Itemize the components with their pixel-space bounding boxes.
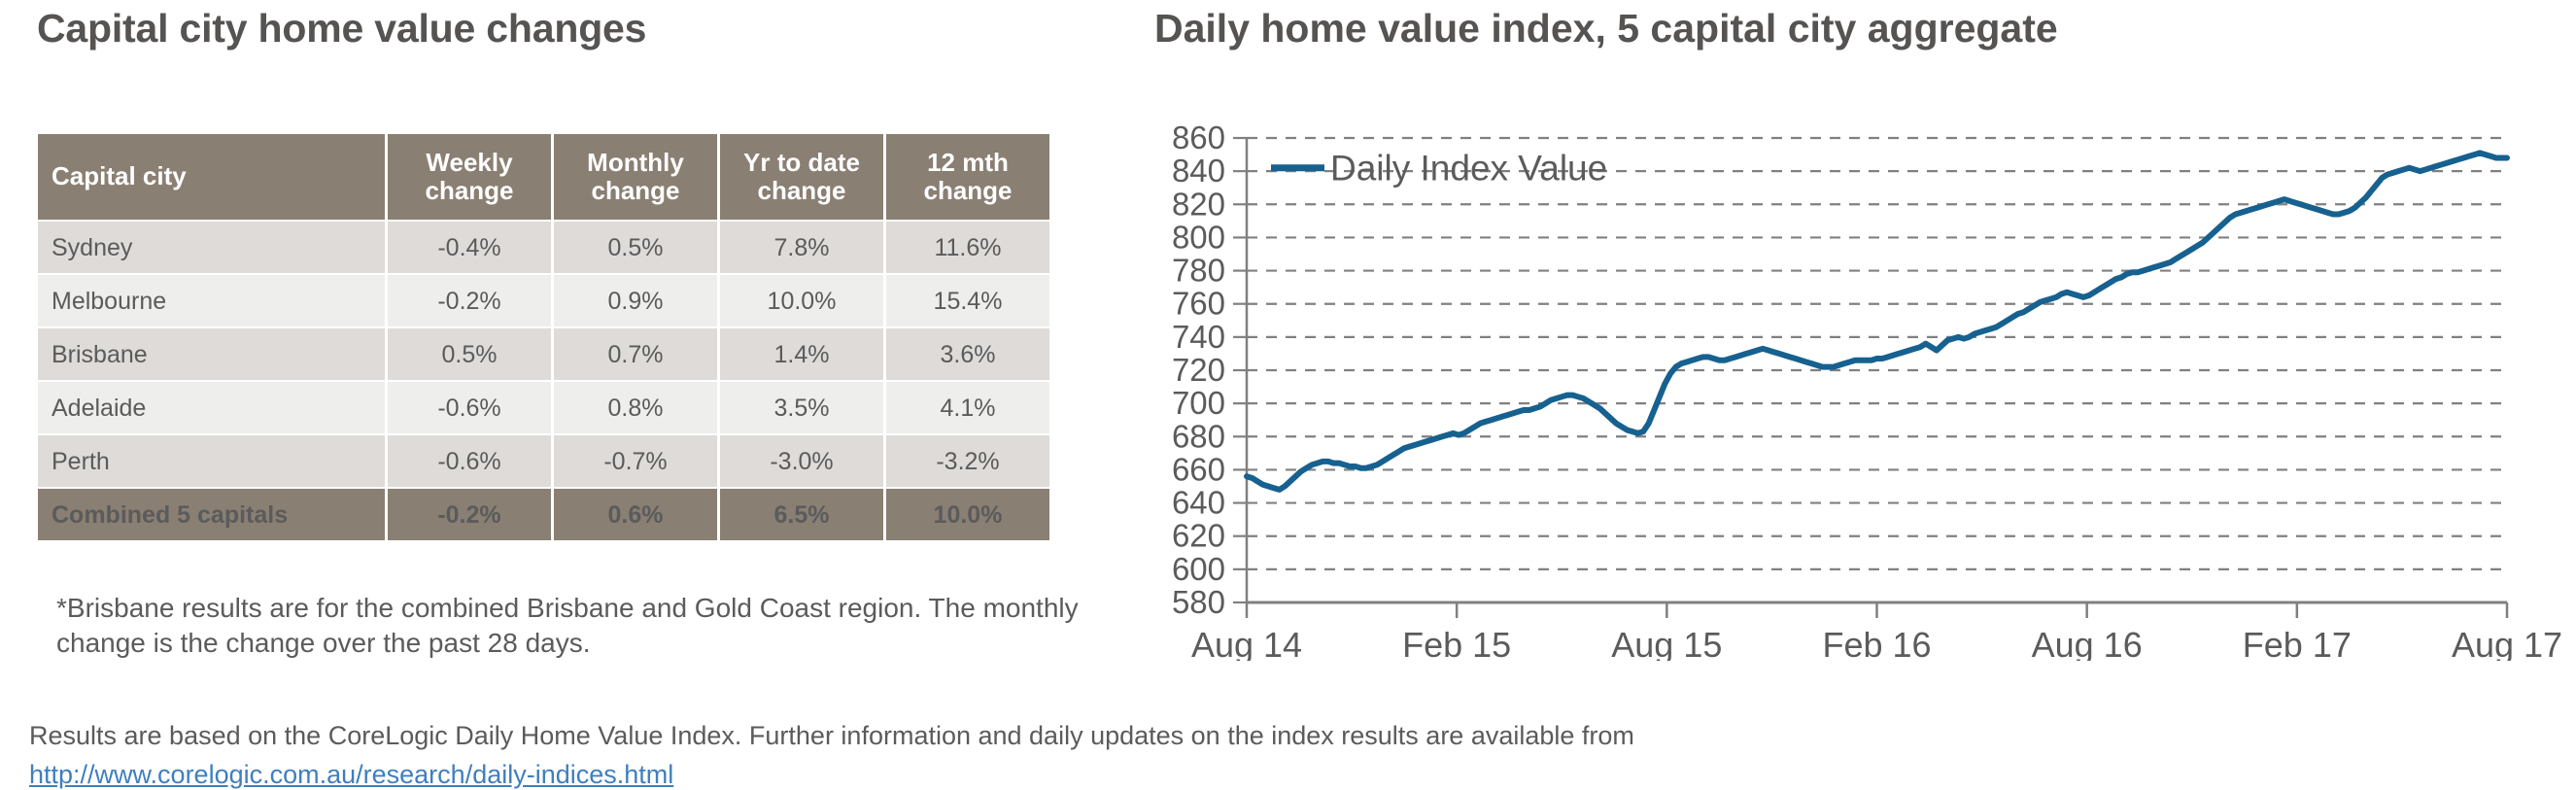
cell-weekly: -0.4% (388, 222, 551, 273)
left-panel: Capital city home value changes Capital … (0, 0, 1156, 709)
x-axis-tick-label: Feb 16 (1822, 625, 1931, 661)
y-axis-tick-label: 840 (1172, 153, 1225, 189)
page-title: Capital city home value changes (37, 6, 646, 52)
y-axis-tick-label: 780 (1172, 253, 1225, 289)
table-header-ytd-change: Yr to date change (720, 134, 883, 220)
cell-city: Sydney (38, 222, 385, 273)
cell-monthly: 0.8% (554, 382, 717, 433)
cell-12mth: 4.1% (886, 382, 1049, 433)
y-axis-tick-label: 640 (1172, 485, 1225, 521)
cell-ytd: -3.0% (720, 435, 883, 487)
y-axis-tick-label: 760 (1172, 286, 1225, 322)
cell-weekly: -0.2% (388, 275, 551, 326)
cell-weekly: 0.5% (388, 328, 551, 380)
cell-weekly: -0.6% (388, 382, 551, 433)
cell-weekly: -0.2% (388, 489, 551, 540)
cell-12mth: 10.0% (886, 489, 1049, 540)
cell-ytd: 1.4% (720, 328, 883, 380)
cell-12mth: -3.2% (886, 435, 1049, 487)
line-chart: 5806006206406606807007207407607808008208… (1147, 97, 2576, 661)
header-line2: change (388, 177, 551, 205)
chart-title: Daily home value index, 5 capital city a… (1154, 6, 2058, 52)
cell-weekly: -0.6% (388, 435, 551, 487)
y-axis-tick-label: 620 (1172, 518, 1225, 554)
header-line2: change (554, 177, 717, 205)
right-panel: Daily home value index, 5 capital city a… (1147, 0, 2576, 680)
table-header-12mth-change: 12 mth change (886, 134, 1049, 220)
table-header-capital-city: Capital city (38, 134, 385, 220)
table-total-row: Combined 5 capitals -0.2% 0.6% 6.5% 10.0… (38, 489, 1049, 540)
cell-city: Perth (38, 435, 385, 487)
y-axis-tick-label: 660 (1172, 451, 1225, 487)
cell-ytd: 3.5% (720, 382, 883, 433)
table-row: Adelaide -0.6% 0.8% 3.5% 4.1% (38, 382, 1049, 433)
cell-monthly: 0.7% (554, 328, 717, 380)
header-line1: Monthly (587, 148, 684, 177)
header-line1: Yr to date (743, 148, 860, 177)
table-body: Sydney -0.4% 0.5% 7.8% 11.6% Melbourne -… (38, 222, 1049, 540)
table-header-row: Capital city Weekly change Monthly chang… (38, 134, 1049, 220)
cell-city: Brisbane (38, 328, 385, 380)
table-header-weekly-change: Weekly change (388, 134, 551, 220)
source-link[interactable]: http://www.corelogic.com.au/research/dai… (29, 760, 673, 790)
table-header: Capital city Weekly change Monthly chang… (38, 134, 1049, 220)
chart-area: 5806006206406606807007207407607808008208… (1147, 97, 2576, 661)
x-axis-tick-label: Feb 17 (2243, 625, 2352, 661)
cell-ytd: 6.5% (720, 489, 883, 540)
header-line1: 12 mth (927, 148, 1009, 177)
cell-city: Adelaide (38, 382, 385, 433)
x-axis-tick-label: Aug 16 (2032, 625, 2143, 661)
cell-12mth: 11.6% (886, 222, 1049, 273)
cell-city: Combined 5 capitals (38, 489, 385, 540)
y-axis-tick-label: 720 (1172, 352, 1225, 388)
cell-city: Melbourne (38, 275, 385, 326)
y-axis-tick-label: 860 (1172, 120, 1225, 155)
legend-label-daily-index-value: Daily Index Value (1330, 149, 1607, 189)
cell-monthly: 0.9% (554, 275, 717, 326)
cell-12mth: 3.6% (886, 328, 1049, 380)
source-note: Results are based on the CoreLogic Daily… (29, 719, 2556, 753)
table-row: Sydney -0.4% 0.5% 7.8% 11.6% (38, 222, 1049, 273)
cell-ytd: 10.0% (720, 275, 883, 326)
y-axis-tick-label: 580 (1172, 584, 1225, 620)
y-axis-tick-label: 820 (1172, 186, 1225, 222)
x-axis-tick-label: Aug 15 (1611, 625, 1722, 661)
x-axis-tick-label: Aug 14 (1191, 625, 1302, 661)
header-line2: change (886, 177, 1049, 205)
cell-monthly: 0.6% (554, 489, 717, 540)
cell-monthly: 0.5% (554, 222, 717, 273)
header-line2: change (720, 177, 883, 205)
table-row: Melbourne -0.2% 0.9% 10.0% 15.4% (38, 275, 1049, 326)
x-axis-tick-label: Aug 17 (2452, 625, 2562, 661)
table-header-monthly-change: Monthly change (554, 134, 717, 220)
table-row: Perth -0.6% -0.7% -3.0% -3.2% (38, 435, 1049, 487)
x-axis-tick-label: Feb 15 (1402, 625, 1511, 661)
y-axis-tick-label: 800 (1172, 219, 1225, 255)
table-footnote: *Brisbane results are for the combined B… (35, 591, 1135, 661)
cell-ytd: 7.8% (720, 222, 883, 273)
y-axis-tick-label: 680 (1172, 418, 1225, 454)
header-line1: Weekly (426, 148, 512, 177)
capital-city-table: Capital city Weekly change Monthly chang… (35, 132, 1052, 542)
y-axis-tick-label: 600 (1172, 551, 1225, 587)
y-axis-tick-label: 700 (1172, 385, 1225, 421)
table-row: Brisbane 0.5% 0.7% 1.4% 3.6% (38, 328, 1049, 380)
cell-12mth: 15.4% (886, 275, 1049, 326)
y-axis-tick-label: 740 (1172, 319, 1225, 355)
cell-monthly: -0.7% (554, 435, 717, 487)
header-line1: Capital city (52, 161, 187, 190)
